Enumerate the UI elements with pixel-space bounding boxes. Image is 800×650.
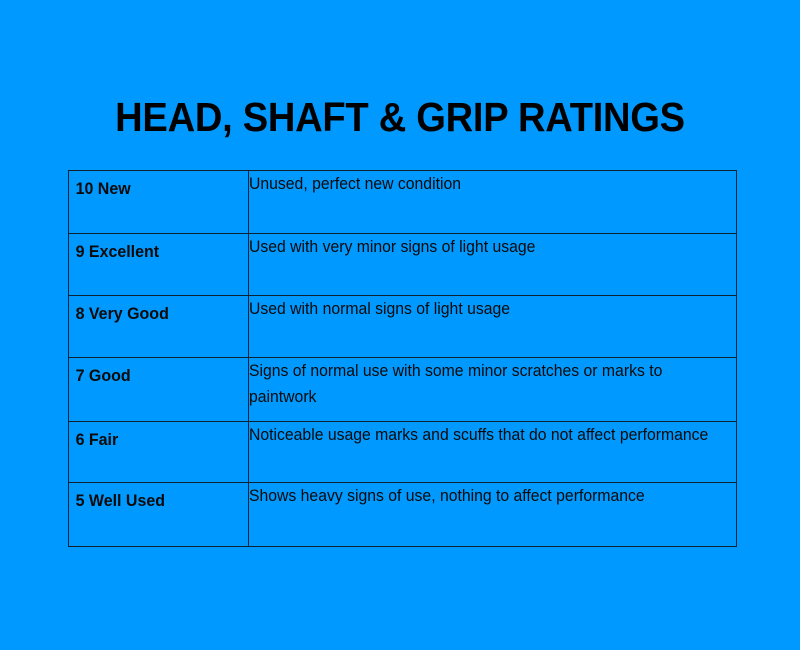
- description-text: Noticeable usage marks and scuffs that d…: [249, 422, 714, 448]
- rating-cell: 7 Good: [69, 358, 249, 422]
- rating-label: 9 Excellent: [69, 234, 237, 262]
- description-text: Shows heavy signs of use, nothing to aff…: [249, 483, 714, 509]
- description-cell: Unused, perfect new condition: [249, 171, 737, 234]
- rating-cell: 5 Well Used: [69, 483, 249, 547]
- description-cell: Shows heavy signs of use, nothing to aff…: [249, 483, 737, 547]
- table-row: 9 Excellent Used with very minor signs o…: [69, 234, 737, 296]
- description-cell: Used with normal signs of light usage: [249, 296, 737, 358]
- description-cell: Signs of normal use with some minor scra…: [249, 358, 737, 422]
- description-text: Signs of normal use with some minor scra…: [249, 358, 714, 410]
- rating-label: 8 Very Good: [69, 296, 237, 324]
- description-text: Used with normal signs of light usage: [249, 296, 714, 322]
- rating-label: 7 Good: [69, 358, 237, 386]
- rating-cell: 8 Very Good: [69, 296, 249, 358]
- rating-label: 5 Well Used: [69, 483, 237, 511]
- rating-label: 10 New: [69, 171, 237, 199]
- ratings-table-body: 10 New Unused, perfect new condition 9 E…: [69, 171, 737, 547]
- rating-cell: 6 Fair: [69, 422, 249, 483]
- page-title: HEAD, SHAFT & GRIP RATINGS: [28, 94, 772, 140]
- table-row: 5 Well Used Shows heavy signs of use, no…: [69, 483, 737, 547]
- head-shaft-grip-ratings-table: 10 New Unused, perfect new condition 9 E…: [68, 170, 737, 547]
- table-row: 6 Fair Noticeable usage marks and scuffs…: [69, 422, 737, 483]
- rating-cell: 10 New: [69, 171, 249, 234]
- description-text: Unused, perfect new condition: [249, 171, 714, 197]
- ratings-slide: HEAD, SHAFT & GRIP RATINGS 10 New Unused…: [0, 0, 800, 650]
- table-row: 7 Good Signs of normal use with some min…: [69, 358, 737, 422]
- table-row: 10 New Unused, perfect new condition: [69, 171, 737, 234]
- table-row: 8 Very Good Used with normal signs of li…: [69, 296, 737, 358]
- description-cell: Used with very minor signs of light usag…: [249, 234, 737, 296]
- rating-cell: 9 Excellent: [69, 234, 249, 296]
- description-cell: Noticeable usage marks and scuffs that d…: [249, 422, 737, 483]
- description-text: Used with very minor signs of light usag…: [249, 234, 714, 260]
- rating-label: 6 Fair: [69, 422, 237, 450]
